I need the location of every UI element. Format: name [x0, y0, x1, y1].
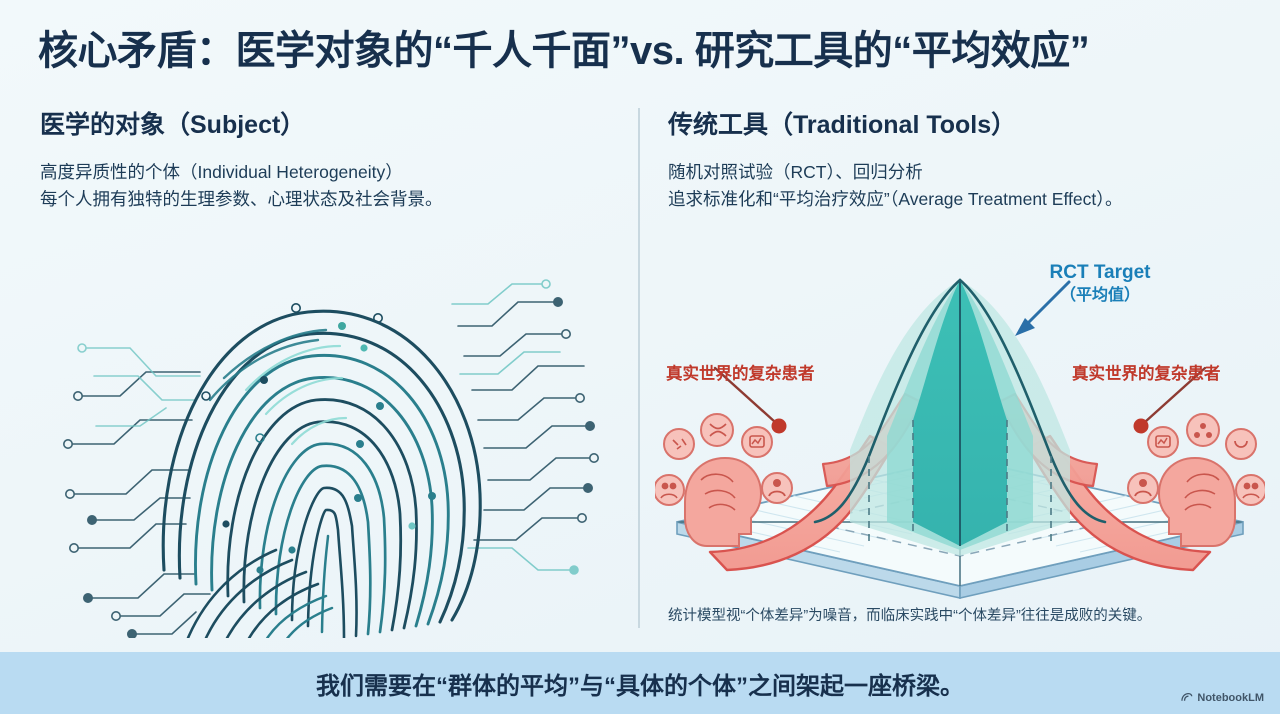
bacteria-icon: [664, 429, 694, 459]
person-icon: [1128, 473, 1158, 503]
bottom-banner: 我们需要在“群体的平均”与“具体的个体”之间架起一座桥梁。: [0, 652, 1280, 714]
dna-icon: [701, 414, 733, 446]
right-column-body: 随机对照试验（RCT）、回归分析 追求标准化和“平均治疗效应”（Average …: [668, 159, 1258, 213]
rct-target-subtext: （平均值）: [1005, 286, 1195, 306]
person-icon: [762, 473, 792, 503]
group-icon: [655, 475, 684, 505]
outlier-label-right: 真实世界的复杂患者: [1072, 364, 1272, 385]
chart-icon: [742, 427, 772, 457]
column-divider: [638, 108, 640, 628]
left-column-body: 高度异质性的个体（Individual Heterogeneity） 每个人拥有…: [40, 159, 620, 213]
right-column-heading: 传统工具（Traditional Tools）: [668, 110, 1258, 141]
molecule-icon: [1187, 414, 1219, 446]
smile-icon: [1226, 429, 1256, 459]
page-title: 核心矛盾：医学对象的“千人千面”vs. 研究工具的“平均效应”: [38, 28, 1248, 74]
right-body-line-2: 追求标准化和“平均治疗效应”（Average Treatment Effect）…: [668, 186, 1258, 213]
group-icon: [1236, 475, 1265, 505]
notebooklm-logo-icon: [1180, 691, 1193, 704]
left-body-line-2: 每个人拥有独特的生理参数、心理状态及社会背景。: [40, 186, 620, 213]
fingerprint-circuit-icon: [60, 248, 620, 638]
banner-text: 我们需要在“群体的平均”与“具体的个体”之间架起一座桥梁。: [316, 666, 964, 701]
chart-icon: [1148, 427, 1178, 457]
outlier-label-left: 真实世界的复杂患者: [666, 364, 856, 385]
series-rct-bell-curve: [815, 280, 1105, 556]
notebooklm-label: NotebookLM: [1197, 692, 1264, 704]
chart-caption: 统计模型视“个体差异”为噪音，而临床实践中“个体差异”往往是成败的关键。: [668, 604, 1272, 625]
left-body-line-1: 高度异质性的个体（Individual Heterogeneity）: [40, 159, 620, 186]
left-column-heading: 医学的对象（Subject）: [40, 110, 620, 141]
right-body-line-1: 随机对照试验（RCT）、回归分析: [668, 159, 1258, 186]
rct-target-label: RCT Target （平均值）: [1005, 261, 1195, 306]
brain-head-icon: [1159, 458, 1235, 546]
rct-target-text: RCT Target: [1050, 262, 1151, 283]
brain-head-icon: [685, 458, 761, 546]
right-column: 传统工具（Traditional Tools） 随机对照试验（RCT）、回归分析…: [668, 110, 1258, 214]
slide-canvas: 核心矛盾：医学对象的“千人千面”vs. 研究工具的“平均效应” 医学的对象（Su…: [0, 0, 1280, 714]
notebooklm-watermark: NotebookLM: [1180, 691, 1264, 704]
left-column: 医学的对象（Subject） 高度异质性的个体（Individual Heter…: [40, 110, 620, 214]
